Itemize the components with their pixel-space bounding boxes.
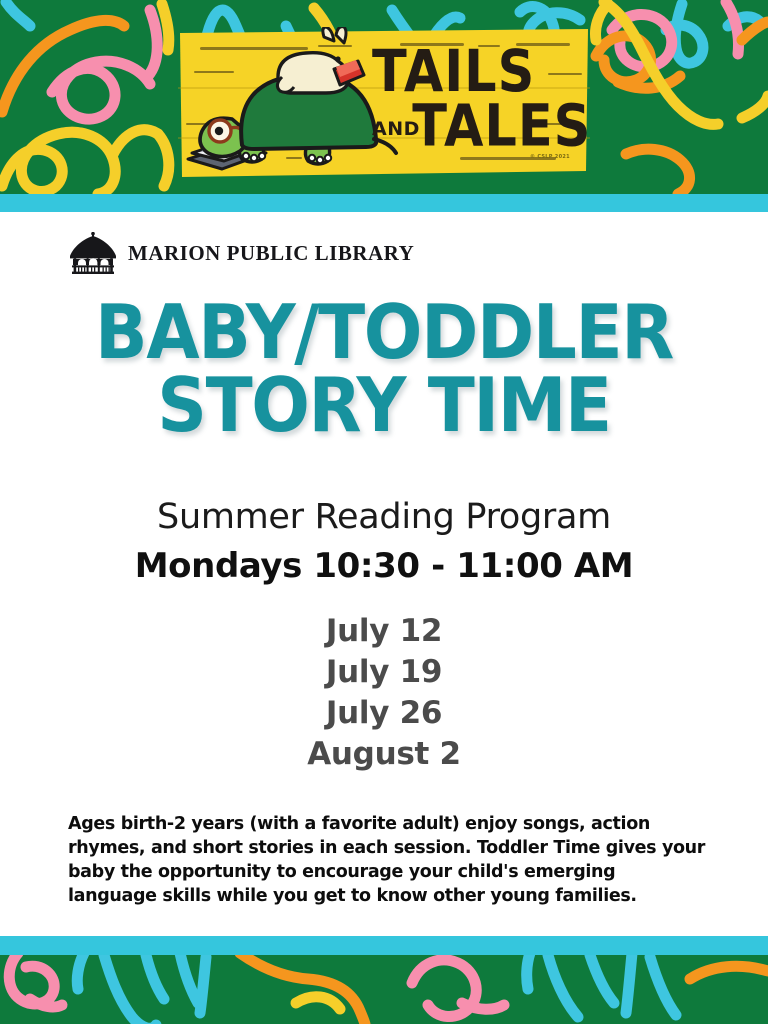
list-item: July 26: [0, 693, 768, 734]
sign-title-tales: TALES: [412, 91, 590, 159]
top-cyan-rule: [0, 194, 768, 212]
page-title-line2: STORY TIME: [31, 369, 738, 442]
page-title-line1: BABY/TODDLER: [31, 296, 738, 369]
list-item: July 12: [0, 611, 768, 652]
sign-credit: © CSLP 2021: [530, 154, 570, 160]
library-logo: MARION PUBLIC LIBRARY: [70, 232, 414, 274]
session-date-list: July 12 July 19 July 26 August 2: [0, 611, 768, 775]
list-item: August 2: [0, 734, 768, 775]
program-subtitle: Summer Reading Program: [0, 497, 768, 537]
poster: TAILS AND TALES © CSLP 2021: [0, 0, 768, 1024]
top-decorative-band: TAILS AND TALES © CSLP 2021: [0, 0, 768, 194]
bottom-decorative-band: [0, 955, 768, 1024]
gazebo-icon: [70, 232, 116, 274]
program-time: Mondays 10:30 - 11:00 AM: [0, 546, 768, 586]
list-item: July 19: [0, 652, 768, 693]
squiggle-pattern-bottom: [0, 955, 768, 1024]
library-name: MARION PUBLIC LIBRARY: [128, 241, 414, 266]
bottom-cyan-rule: [0, 936, 768, 955]
tails-and-tales-sign-artwork: TAILS AND TALES © CSLP 2021: [178, 27, 590, 179]
program-description: Ages birth-2 years (with a favorite adul…: [68, 812, 708, 908]
page-title: BABY/TODDLER STORY TIME: [31, 296, 738, 442]
